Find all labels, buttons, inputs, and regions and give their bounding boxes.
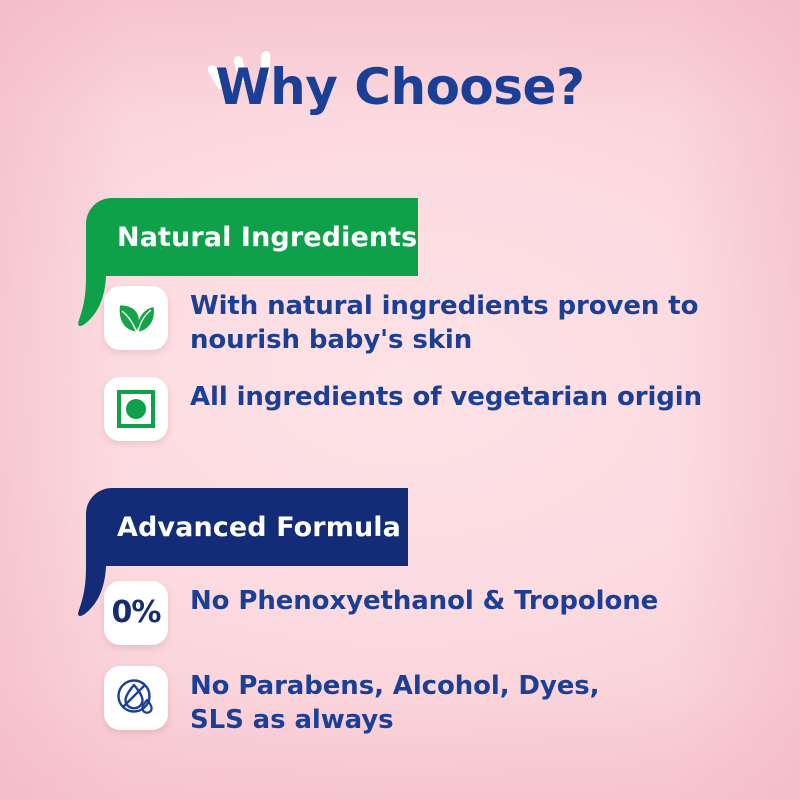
feature-row: 0% No Phenoxyethanol & Tropolone — [104, 581, 658, 645]
page-title: Why Choose? — [0, 62, 800, 112]
feature-text: No Parabens, Alcohol, Dyes, SLS as alway… — [190, 666, 599, 738]
poster-canvas: Why Choose? Natural Ingredients With nat… — [0, 0, 800, 800]
leaves-icon — [104, 286, 168, 350]
feature-text: All ingredients of vegetarian origin — [190, 377, 702, 414]
feature-row: No Parabens, Alcohol, Dyes, SLS as alway… — [104, 666, 599, 738]
vegetarian-mark-glyph — [116, 389, 156, 429]
section-banner-natural: Natural Ingredients — [62, 198, 418, 276]
section-banner-advanced: Advanced Formula — [62, 488, 408, 566]
feature-text: No Phenoxyethanol & Tropolone — [190, 581, 658, 618]
banner-label-natural: Natural Ingredients — [117, 222, 417, 253]
zero-percent-label: 0% — [112, 598, 161, 628]
feature-text: With natural ingredients proven to nouri… — [190, 286, 698, 358]
leaves-icon-glyph — [114, 296, 158, 340]
no-droplet-glyph — [115, 677, 157, 719]
feature-row: All ingredients of vegetarian origin — [104, 377, 702, 441]
page-title-container: Why Choose? — [0, 62, 800, 112]
banner-label-advanced: Advanced Formula — [117, 512, 401, 543]
zero-percent-icon: 0% — [104, 581, 168, 645]
feature-row: With natural ingredients proven to nouri… — [104, 286, 698, 358]
no-droplet-icon — [104, 666, 168, 730]
vegetarian-mark-icon — [104, 377, 168, 441]
